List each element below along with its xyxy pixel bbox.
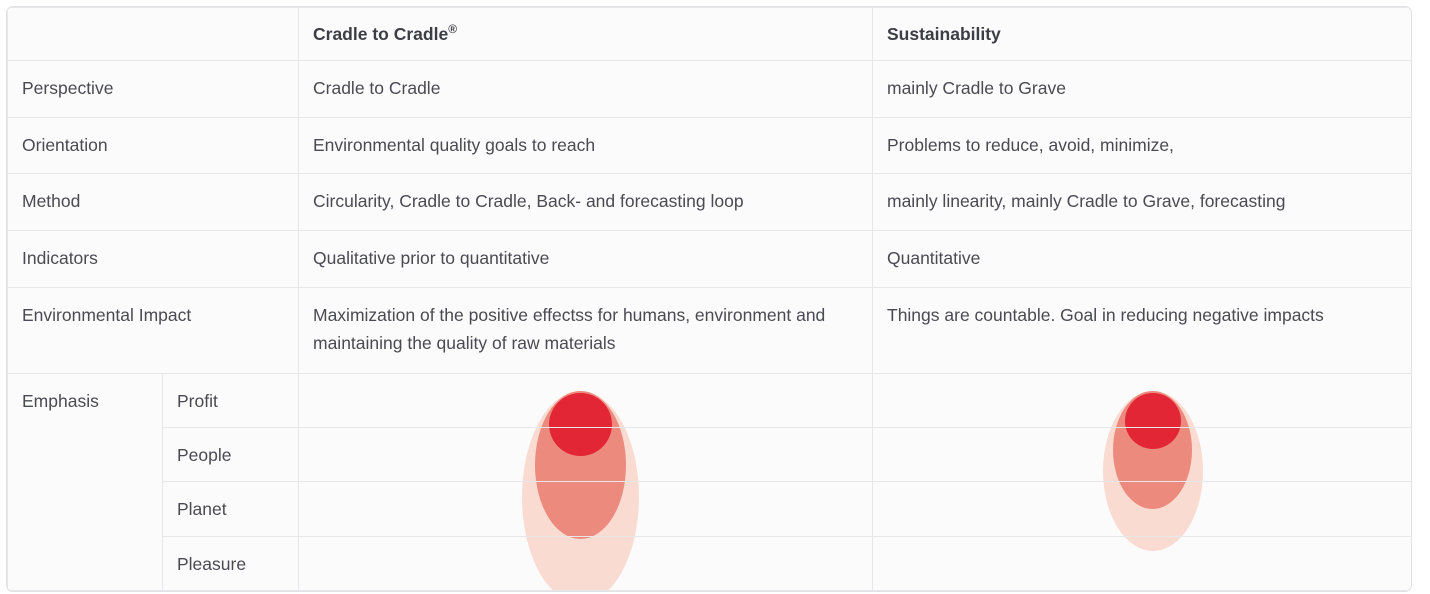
- table-row-emphasis-pleasure: Pleasure: [8, 536, 1413, 590]
- cell-environmental-impact-c2c: Maximization of the positive effectss fo…: [299, 287, 873, 373]
- table-row-emphasis-planet: Planet: [8, 482, 1413, 536]
- row-label-method: Method: [8, 174, 299, 231]
- cell-perspective-sustainability: mainly Cradle to Grave: [873, 61, 1413, 118]
- cell-emphasis-planet-c2c: [299, 482, 873, 536]
- table-row: Method Circularity, Cradle to Cradle, Ba…: [8, 174, 1413, 231]
- cell-orientation-c2c: Environmental quality goals to reach: [299, 117, 873, 174]
- table-row: Environmental Impact Maximization of the…: [8, 287, 1413, 373]
- header-sustainability: Sustainability: [873, 8, 1413, 61]
- sub-row-label-planet: Planet: [163, 482, 299, 536]
- comparison-table-container: Cradle to Cradle® Sustainability Perspec…: [6, 6, 1412, 592]
- cell-orientation-sustainability: Problems to reduce, avoid, minimize,: [873, 117, 1413, 174]
- table-row-emphasis-people: People: [8, 427, 1413, 481]
- header-corner-cell: [8, 8, 299, 61]
- registered-trademark-icon: ®: [448, 22, 457, 36]
- row-label-emphasis: Emphasis: [8, 373, 163, 590]
- cell-emphasis-planet-sustainability: [873, 482, 1413, 536]
- table-row: Indicators Qualitative prior to quantita…: [8, 230, 1413, 287]
- cell-emphasis-profit-sustainability: [873, 373, 1413, 427]
- table-row-emphasis-profit: Emphasis Profit: [8, 373, 1413, 427]
- table-row: Orientation Environmental quality goals …: [8, 117, 1413, 174]
- cell-emphasis-pleasure-sustainability: [873, 536, 1413, 590]
- cell-perspective-c2c: Cradle to Cradle: [299, 61, 873, 118]
- sub-row-label-people: People: [163, 427, 299, 481]
- cell-indicators-c2c: Qualitative prior to quantitative: [299, 230, 873, 287]
- cell-indicators-sustainability: Quantitative: [873, 230, 1413, 287]
- row-label-orientation: Orientation: [8, 117, 299, 174]
- page-root: Cradle to Cradle® Sustainability Perspec…: [0, 0, 1430, 594]
- table-header-row: Cradle to Cradle® Sustainability: [8, 8, 1413, 61]
- sub-row-label-pleasure: Pleasure: [163, 536, 299, 590]
- cell-environmental-impact-sustainability: Things are countable. Goal in reducing n…: [873, 287, 1413, 373]
- cell-emphasis-pleasure-c2c: [299, 536, 873, 590]
- table-row: Perspective Cradle to Cradle mainly Crad…: [8, 61, 1413, 118]
- row-label-perspective: Perspective: [8, 61, 299, 118]
- cell-method-c2c: Circularity, Cradle to Cradle, Back- and…: [299, 174, 873, 231]
- row-label-indicators: Indicators: [8, 230, 299, 287]
- sub-row-label-profit: Profit: [163, 373, 299, 427]
- row-label-environmental-impact: Environmental Impact: [8, 287, 299, 373]
- cell-emphasis-people-sustainability: [873, 427, 1413, 481]
- cell-emphasis-people-c2c: [299, 427, 873, 481]
- cell-method-sustainability: mainly linearity, mainly Cradle to Grave…: [873, 174, 1413, 231]
- header-cradle-to-cradle: Cradle to Cradle®: [299, 8, 873, 61]
- cell-emphasis-profit-c2c: [299, 373, 873, 427]
- header-cradle-to-cradle-label: Cradle to Cradle: [313, 24, 448, 44]
- comparison-table: Cradle to Cradle® Sustainability Perspec…: [7, 7, 1412, 591]
